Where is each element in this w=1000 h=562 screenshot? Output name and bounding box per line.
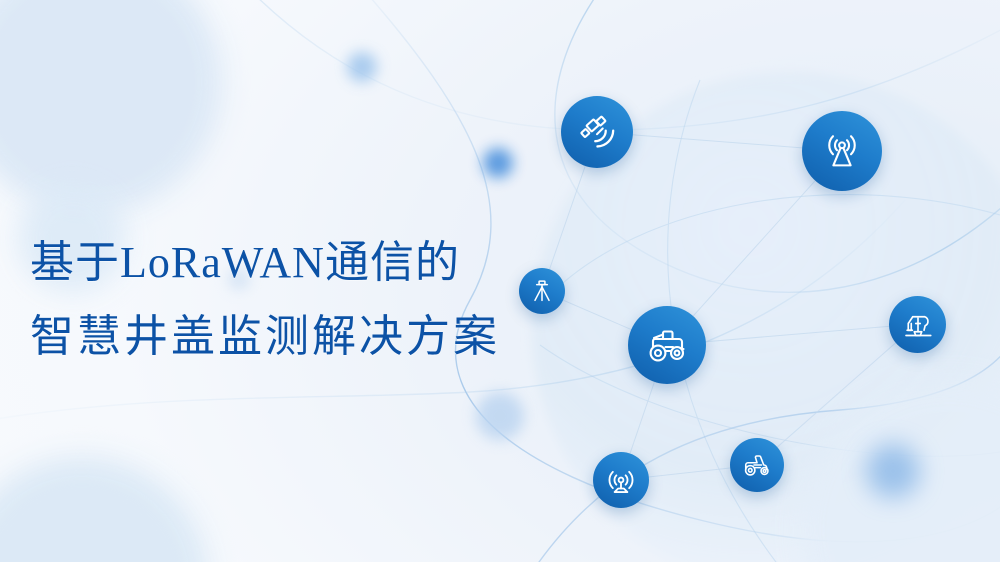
page-title-line-2: 智慧井盖监测解决方案 — [30, 300, 590, 374]
node-dot-upper-mid — [483, 148, 513, 178]
survey-tripod-icon-node[interactable] — [519, 268, 565, 314]
blob-bottom-left — [0, 456, 210, 562]
wireless-sensor-icon — [604, 463, 638, 497]
satellite-icon — [576, 111, 618, 153]
tractor-icon-node[interactable] — [628, 306, 706, 384]
blob-bottom-right — [800, 380, 1000, 562]
page-title-line-1: 基于LoRaWAN通信的 — [30, 226, 590, 300]
blob-top-left — [0, 0, 222, 214]
presentation-cover-slide: 基于LoRaWAN通信的 智慧井盖监测解决方案 — [0, 0, 1000, 562]
wireless-sensor-icon-node[interactable] — [593, 452, 649, 508]
harvester-icon — [739, 447, 775, 483]
oil-pumpjack-icon — [900, 307, 936, 343]
node-dot-bottom-right — [866, 444, 920, 498]
node-dot-center-low — [476, 392, 524, 440]
tractor-icon — [643, 321, 691, 369]
oil-pumpjack-icon-node[interactable] — [889, 296, 946, 353]
radio-tower-icon-node[interactable] — [802, 111, 882, 191]
node-dot-top — [347, 52, 377, 82]
survey-tripod-icon — [528, 277, 556, 305]
slide-title-block: 基于LoRaWAN通信的 智慧井盖监测解决方案 — [30, 226, 590, 374]
harvester-icon-node[interactable] — [730, 438, 784, 492]
radio-tower-icon — [819, 128, 865, 174]
satellite-icon-node[interactable] — [561, 96, 633, 168]
